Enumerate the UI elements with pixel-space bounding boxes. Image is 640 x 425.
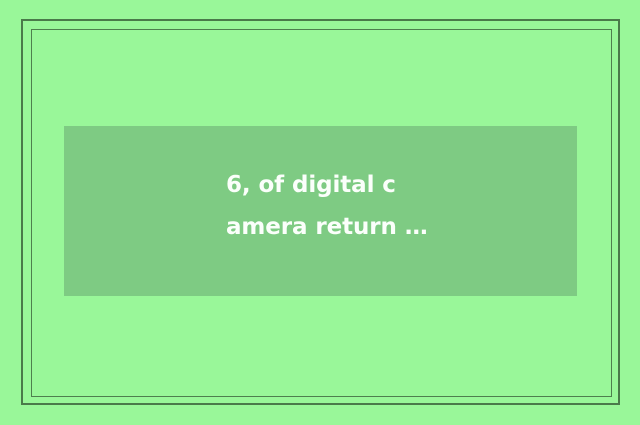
panel-truncated-text: 6, of digital c amera return … [226,164,556,248]
screenshot-root: 6, of digital c amera return … [0,0,640,425]
content-panel: 6, of digital c amera return … [64,126,577,296]
